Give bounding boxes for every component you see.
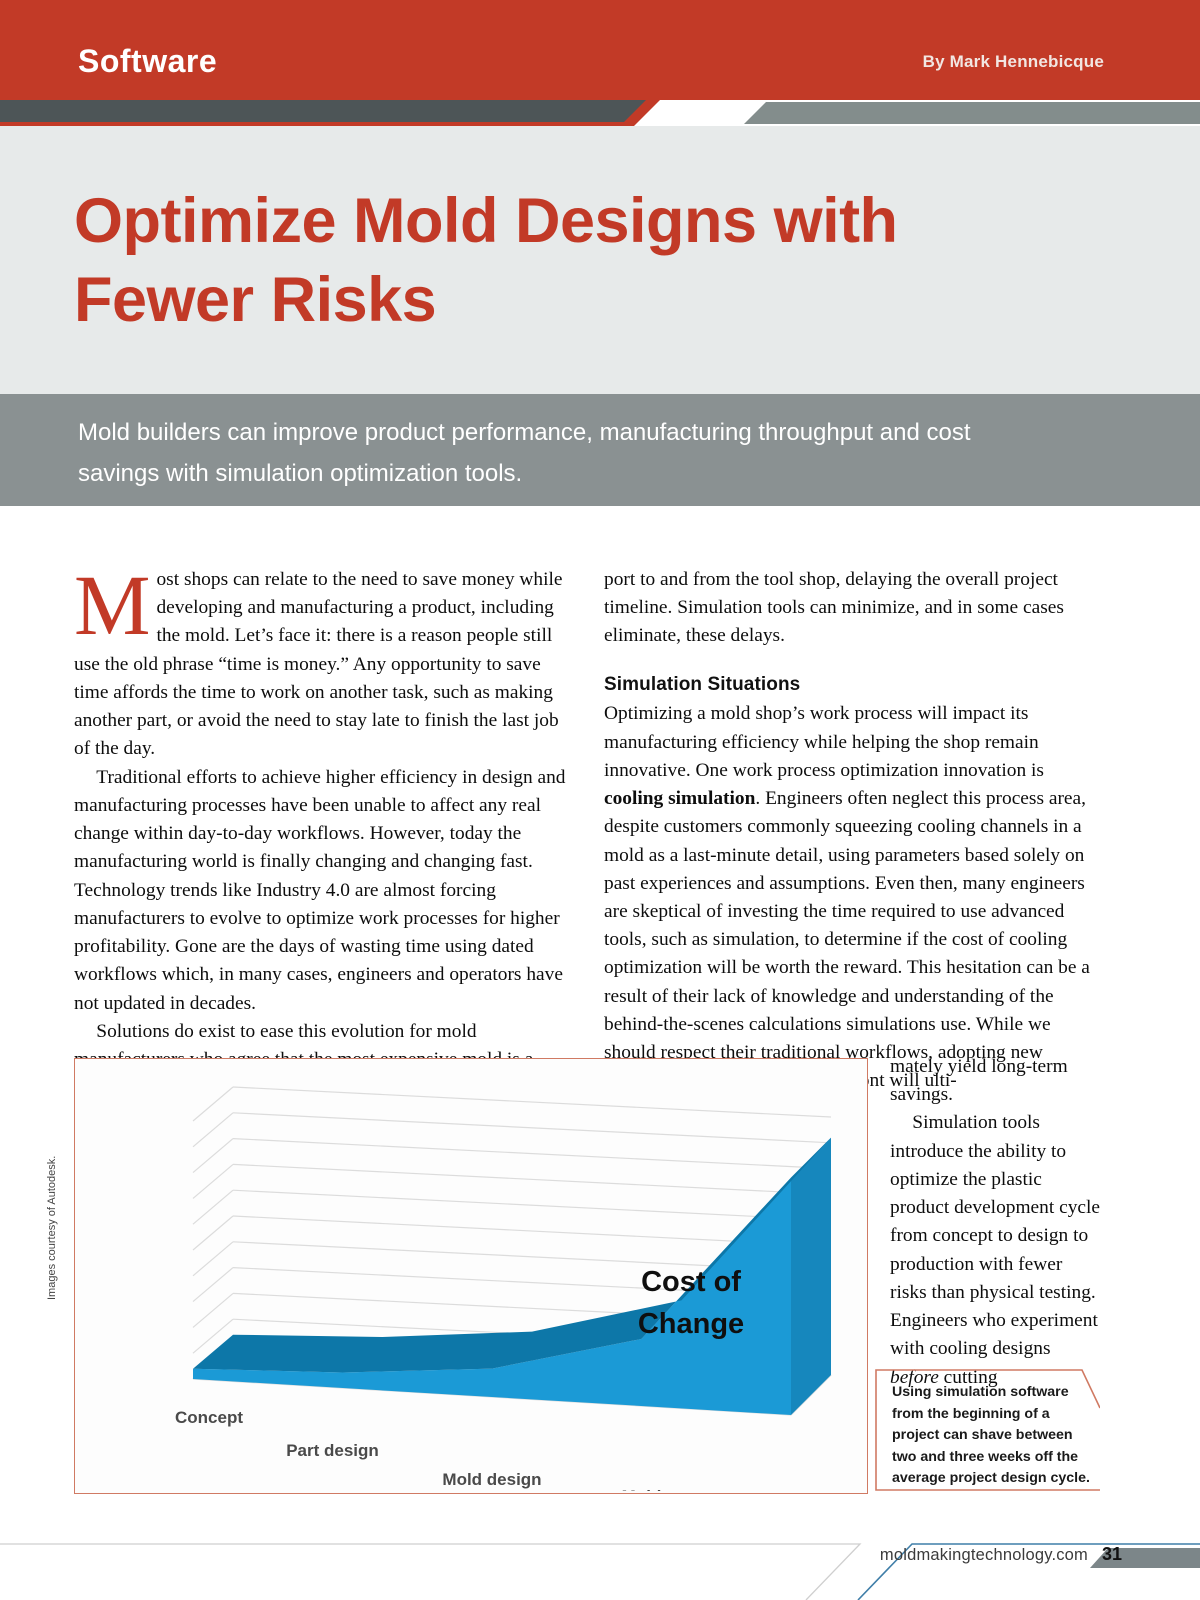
- callout-text: Using simulation software from the begin…: [892, 1382, 1090, 1490]
- paragraph-simulation-tools-part1: Simulation tools introduce the ability t…: [890, 1112, 1100, 1359]
- figure-credit: Images courtesy of Autodesk.: [46, 1120, 58, 1300]
- page-title: Optimize Mold Designs with Fewer Risks: [74, 182, 1084, 341]
- paragraph-first: Most shops can relate to the need to sav…: [74, 566, 568, 764]
- chart-category-label: Part design: [286, 1441, 379, 1460]
- paragraph-continued: port to and from the tool shop, delaying…: [604, 566, 1100, 651]
- chart-category-label: Mold: [622, 1487, 662, 1491]
- body-column-narrow: mately yield long-term savings. Simulati…: [890, 1053, 1102, 1392]
- section-kicker: Software: [78, 43, 217, 80]
- article-deck: Mold builders can improve product perfor…: [78, 412, 978, 495]
- figure-cost-of-change: ConceptPart designMold designMoldproduct…: [74, 1058, 868, 1494]
- drop-cap: M: [74, 568, 156, 639]
- emphasis-cooling-simulation: cooling simulation: [604, 788, 755, 809]
- pull-quote-callout: Using simulation software from the begin…: [874, 1368, 1100, 1492]
- body-column-right: port to and from the tool shop, delaying…: [604, 566, 1100, 1096]
- body-column-left: Most shops can relate to the need to sav…: [74, 566, 568, 1102]
- paragraph-traditional-efforts: Traditional efforts to achieve higher ef…: [74, 764, 568, 1018]
- cost-of-change-chart: ConceptPart designMold designMoldproduct…: [75, 1059, 865, 1491]
- paragraph-wrap-tail: mately yield long-term savings.: [890, 1053, 1102, 1109]
- area-end-cap: [791, 1138, 831, 1415]
- paragraph-optimizing-part2: . Engineers often neglect this process a…: [604, 788, 1090, 1091]
- footer-website: moldmakingtechnology.com: [880, 1546, 1088, 1565]
- author-byline: By Mark Hennebicque: [923, 52, 1104, 72]
- chart-category-label: Concept: [175, 1408, 243, 1427]
- footer-page-number: 31: [1102, 1544, 1122, 1565]
- paragraph-simulation-tools: Simulation tools introduce the ability t…: [890, 1109, 1102, 1391]
- paragraph-optimizing: Optimizing a mold shop’s work process wi…: [604, 700, 1100, 1095]
- chart-series-label: Change: [638, 1308, 744, 1340]
- section-subhead: Simulation Situations: [604, 671, 1100, 699]
- chart-category-label: Mold design: [442, 1470, 541, 1489]
- paragraph-optimizing-part1: Optimizing a mold shop’s work process wi…: [604, 703, 1044, 780]
- chart-series-label: Cost of: [641, 1266, 741, 1298]
- header-gray-angled-bar: [744, 102, 1200, 124]
- header-dark-angled-bar: [0, 100, 646, 122]
